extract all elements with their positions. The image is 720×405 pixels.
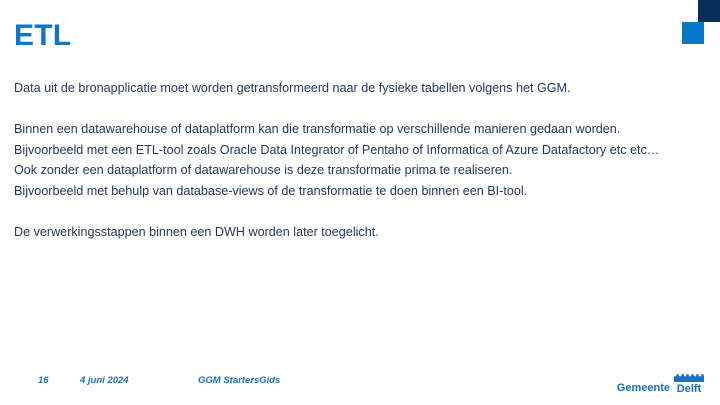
delft-crown-icon <box>674 373 704 382</box>
slide-body-text: Data uit de bronapplicatie moet worden g… <box>14 78 692 242</box>
footer-deck-name: GGM StartersGids <box>198 375 280 386</box>
body-paragraph: Data uit de bronapplicatie moet worden g… <box>14 78 692 99</box>
slide-footer: 16 4 juni 2024 GGM StartersGids Gemeente… <box>0 363 720 405</box>
logo-delft-group: Delft <box>674 373 704 395</box>
gemeente-delft-logo: Gemeente Delft <box>617 367 704 395</box>
presentation-slide: ETL Data uit de bronapplicatie moet word… <box>0 0 720 405</box>
footer-date: 4 juni 2024 <box>80 375 129 386</box>
page-title: ETL <box>14 19 71 52</box>
body-paragraph: Binnen een datawarehouse of dataplatform… <box>14 119 692 140</box>
footer-page-number: 16 <box>38 375 49 386</box>
body-paragraph: Ook zonder een dataplatform of datawareh… <box>14 160 692 181</box>
decorative-square-dark-icon <box>698 0 720 22</box>
body-paragraph: De verwerkingsstappen binnen een DWH wor… <box>14 222 692 243</box>
logo-text-gemeente: Gemeente <box>617 383 670 395</box>
body-paragraph: Bijvoorbeeld met behulp van database-vie… <box>14 181 692 202</box>
logo-wordmark: Gemeente Delft <box>617 373 704 395</box>
decorative-square-light-icon <box>682 22 704 44</box>
body-paragraph: Bijvoorbeeld met een ETL-tool zoals Orac… <box>14 140 692 161</box>
logo-text-delft: Delft <box>677 384 701 395</box>
